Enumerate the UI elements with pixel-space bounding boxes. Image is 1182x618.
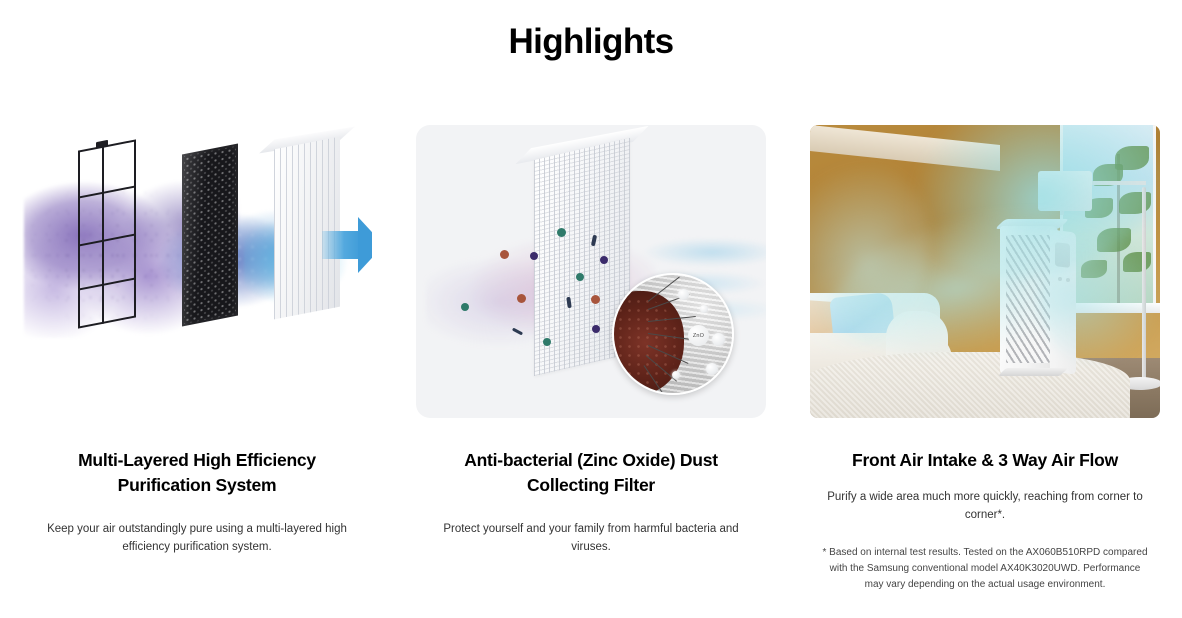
highlights-page: Highlights bbox=[0, 0, 1182, 618]
lamp-pole bbox=[1142, 187, 1146, 383]
particle-virus bbox=[600, 256, 608, 264]
zinc-oxide-particle bbox=[678, 289, 689, 300]
mesh-pre-filter-icon bbox=[78, 139, 136, 328]
air-purifier-grille bbox=[1006, 235, 1050, 363]
room-airflow-photo bbox=[810, 125, 1160, 418]
anti-bacterial-filter-illustration: ZnO bbox=[416, 125, 766, 418]
headline: Front Air Intake & 3 Way Air Flow bbox=[820, 448, 1150, 473]
headline-line-2: Collecting Filter bbox=[527, 475, 655, 495]
air-purifier-indicator bbox=[1058, 277, 1062, 281]
highlight-card-anti-bacterial-filter: ZnO Anti-bacterial (Zinc Oxide) Dust Col… bbox=[394, 125, 788, 593]
particle-dust bbox=[591, 295, 600, 304]
air-purifier-indicator bbox=[1066, 278, 1070, 282]
carbon-filter-icon bbox=[182, 144, 238, 327]
caption-block: Anti-bacterial (Zinc Oxide) Dust Collect… bbox=[426, 418, 756, 556]
footnote: * Based on internal test results. Tested… bbox=[820, 545, 1150, 593]
particle-dust bbox=[500, 250, 509, 259]
particle-dust bbox=[517, 294, 526, 303]
headline-line-1: Front Air Intake & 3 Way Air Flow bbox=[852, 450, 1118, 470]
particle-virus bbox=[592, 325, 600, 333]
clean-air-arrow-icon bbox=[322, 217, 372, 273]
mesh-pane-right bbox=[102, 139, 136, 324]
caption-block: Front Air Intake & 3 Way Air Flow Purify… bbox=[820, 418, 1150, 593]
headline: Anti-bacterial (Zinc Oxide) Dust Collect… bbox=[426, 448, 756, 499]
body-copy: Protect yourself and your family from ha… bbox=[426, 521, 756, 557]
lamp-shade bbox=[1038, 171, 1092, 211]
particle-virus bbox=[530, 252, 538, 260]
zinc-oxide-particle bbox=[672, 371, 680, 379]
page-title: Highlights bbox=[0, 22, 1182, 62]
particle-bacteria bbox=[557, 228, 566, 237]
caption-block: Multi-Layered High Efficiency Purificati… bbox=[32, 418, 362, 556]
headline-line-1: Multi-Layered High Efficiency bbox=[78, 450, 316, 470]
headline: Multi-Layered High Efficiency Purificati… bbox=[32, 448, 362, 499]
filter-scene bbox=[22, 125, 372, 418]
multi-layer-filter-illustration bbox=[22, 125, 372, 418]
zinc-scene: ZnO bbox=[416, 125, 766, 418]
magnifier-inset: ZnO bbox=[612, 273, 734, 395]
highlight-card-multi-layer-filter: Multi-Layered High Efficiency Purificati… bbox=[0, 125, 394, 593]
mesh-pane-left bbox=[78, 146, 104, 329]
headline-line-2: Purification System bbox=[118, 475, 277, 495]
zno-label: ZnO bbox=[688, 325, 709, 346]
air-purifier-control-panel bbox=[1055, 242, 1070, 268]
body-copy: Keep your air outstandingly pure using a… bbox=[32, 521, 362, 557]
body-copy: Purify a wide area much more quickly, re… bbox=[820, 489, 1150, 525]
air-purifier-base bbox=[998, 368, 1068, 376]
highlight-card-front-air-intake: Front Air Intake & 3 Way Air Flow Purify… bbox=[788, 125, 1182, 593]
highlights-columns: Multi-Layered High Efficiency Purificati… bbox=[0, 125, 1182, 593]
room-scene bbox=[810, 125, 1160, 418]
particle-bacteria bbox=[543, 338, 551, 346]
particle-bacteria bbox=[461, 303, 469, 311]
zinc-oxide-particle bbox=[706, 363, 718, 375]
zinc-oxide-particle bbox=[700, 305, 708, 313]
zinc-oxide-particle bbox=[712, 333, 725, 346]
headline-line-1: Anti-bacterial (Zinc Oxide) Dust bbox=[464, 450, 718, 470]
particle-bacteria bbox=[576, 273, 584, 281]
floor-rug bbox=[810, 352, 1130, 418]
